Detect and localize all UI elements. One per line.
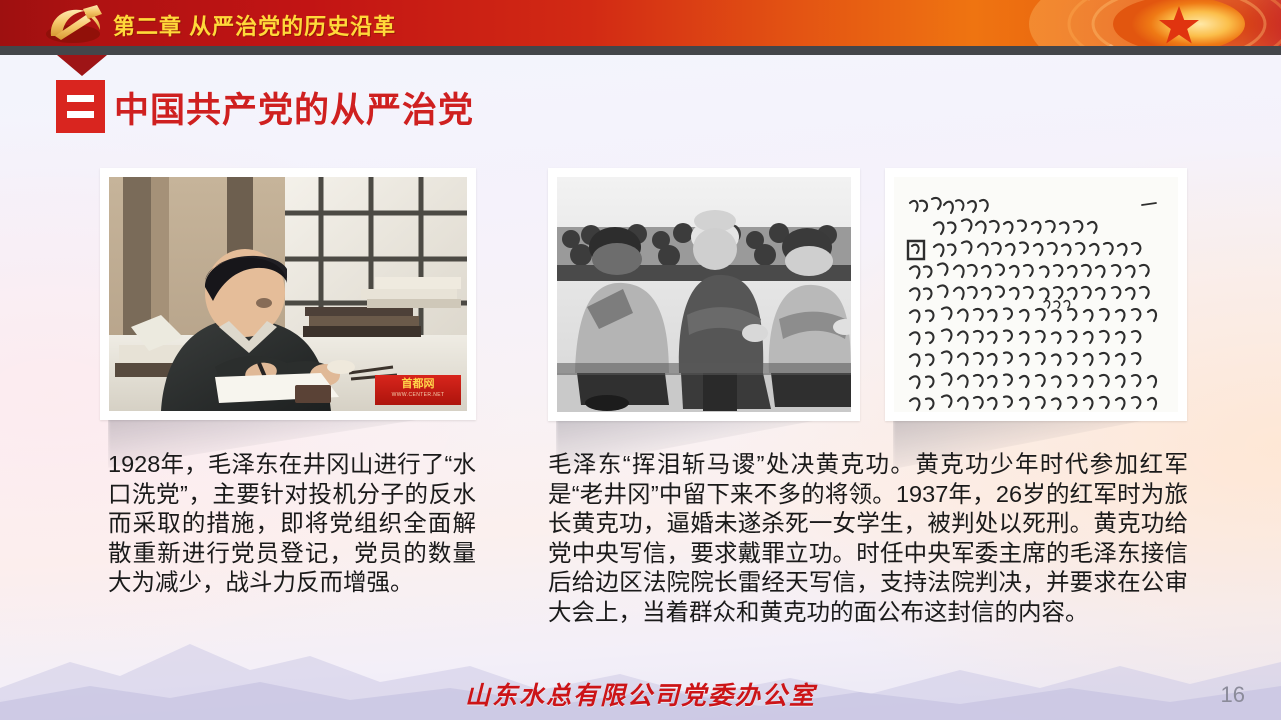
badge-stroke-top <box>67 95 94 102</box>
section-number-badge <box>56 80 105 133</box>
red-star-rays-icon <box>981 0 1281 46</box>
photo-watermark: 首都网 WWW.CENTER.NET <box>375 375 461 405</box>
down-triangle-icon <box>57 55 107 76</box>
photo-image-area <box>894 177 1178 412</box>
photo-image-area <box>557 177 851 412</box>
left-caption: 1928年，毛泽东在井冈山进行了“水口洗党”，主要针对投机分子的反水而采取的措施… <box>108 450 476 598</box>
right-caption: 毛泽东“挥泪斩马谡”处决黄克功。黄克功少年时代参加红军是“老井冈”中留下来不多的… <box>548 450 1188 627</box>
header-separator-bar <box>0 46 1281 55</box>
footer-organization-name: 山东水总有限公司党委办公室 <box>0 676 1281 712</box>
page-number: 16 <box>1221 682 1245 708</box>
chapter-title: 第二章 从严治党的历史沿革 <box>113 9 396 41</box>
cpc-hammer-sickle-emblem-icon <box>31 3 119 45</box>
red-army-assembly-photo <box>548 168 860 421</box>
handwritten-letter-photo <box>885 168 1187 421</box>
watermark-subtext: WWW.CENTER.NET <box>392 390 445 401</box>
mao-writing-at-desk-photo: 首都网 WWW.CENTER.NET <box>100 168 476 420</box>
watermark-text: 首都网 <box>402 379 435 390</box>
chapter-header-bar: 第二章 从严治党的历史沿革 <box>0 0 1281 46</box>
photo-image-area: 首都网 WWW.CENTER.NET <box>109 177 467 411</box>
section-title: 中国共产党的从严治党 <box>114 82 474 133</box>
badge-stroke-bottom <box>67 111 94 118</box>
slide-root: 第二章 从严治党的历史沿革 中国共产党的从严治党 <box>0 0 1281 720</box>
